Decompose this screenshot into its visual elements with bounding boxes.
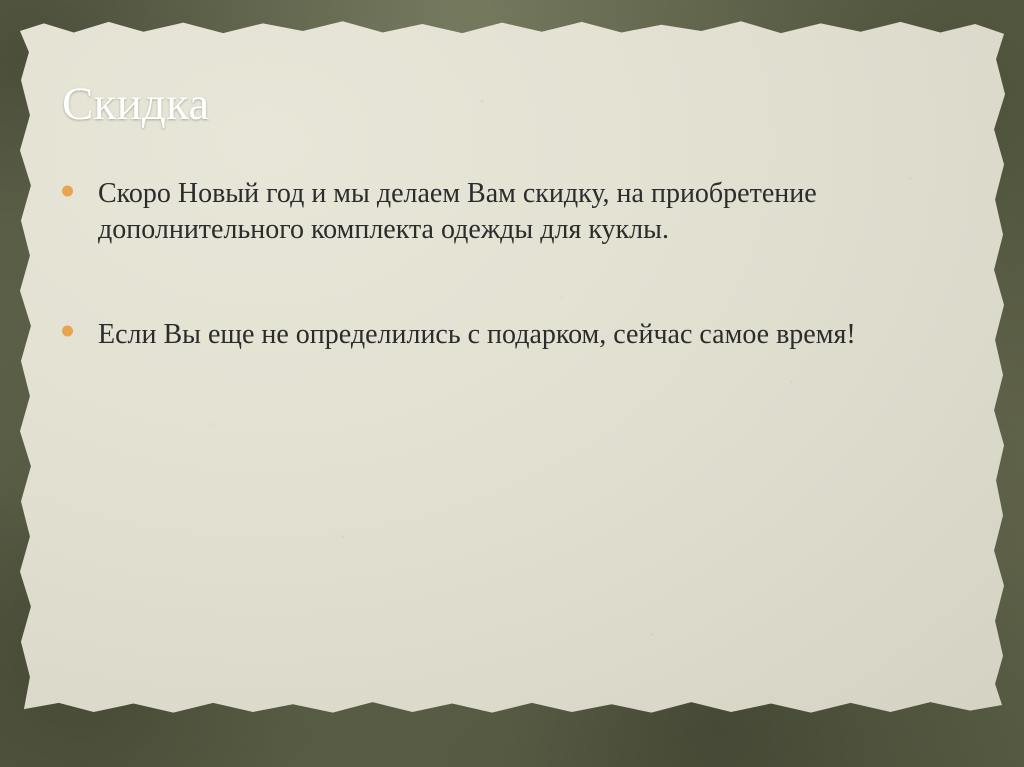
list-item: Если Вы еще не определились с подарком, … [52,317,952,353]
list-item-text: Скоро Новый год и мы делаем Вам скидку, … [98,176,952,249]
list-item-text: Если Вы еще не определились с подарком, … [98,317,952,353]
presentation-slide: Скидка Скоро Новый год и мы делаем Вам с… [0,0,1024,767]
page-title: Скидка [62,77,942,131]
list-item: Скоро Новый год и мы делаем Вам скидку, … [52,176,952,249]
slide-content: Скидка Скоро Новый год и мы делаем Вам с… [0,0,1024,767]
round-bullet-icon [62,326,73,337]
bullet-list: Скоро Новый год и мы делаем Вам скидку, … [52,176,952,353]
round-bullet-icon [62,185,73,196]
